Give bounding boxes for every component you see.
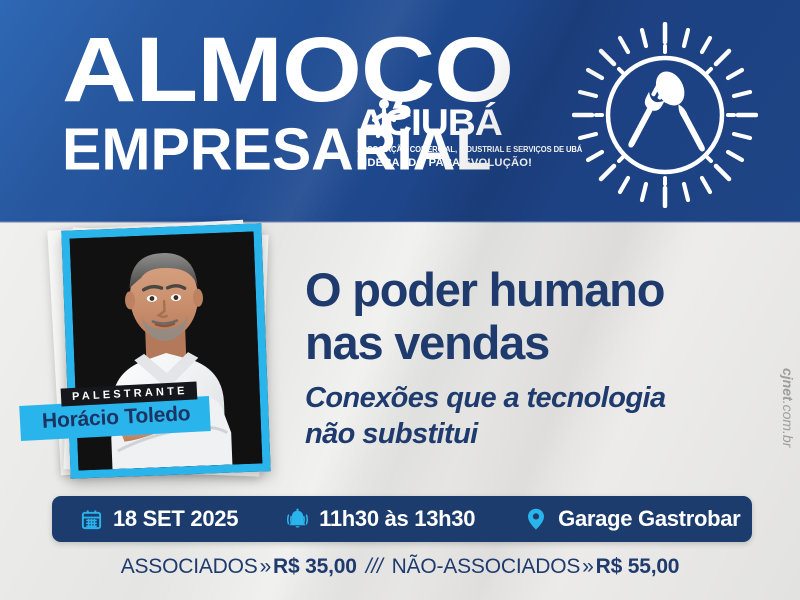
calendar-icon xyxy=(78,506,104,532)
talk-subtitle-line1: Conexões que a tecnologia xyxy=(305,380,775,416)
member-label: ASSOCIADOS xyxy=(121,555,258,578)
bell-icon xyxy=(284,506,310,532)
watermark-credit: cjnet.com.br xyxy=(780,368,796,447)
nonmember-label: NÃO-ASSOCIADOS xyxy=(392,555,581,578)
event-date-text: 18 SET 2025 xyxy=(113,506,238,532)
event-date-item: 18 SET 2025 xyxy=(78,506,238,532)
speaker-name: Horácio Toledo xyxy=(41,402,191,433)
event-time-item: 11h30 às 13h30 xyxy=(284,506,475,532)
talk-title-line2: nas vendas xyxy=(305,316,775,369)
talk-subtitle-line2: não substitui xyxy=(305,416,775,452)
map-pin-icon xyxy=(523,506,549,532)
aciuba-fullname: ASSOCIAÇÃO COMERCIAL, INDUSTRIAL E SERVI… xyxy=(357,144,520,155)
watermark-brand: cjnet xyxy=(780,368,796,401)
event-time-text: 11h30 às 13h30 xyxy=(319,506,475,532)
aciuba-wordmark: ACIUBÁ xyxy=(357,104,541,142)
header-banner: ALMOÇO EMPRESARIAL ACIUBÁ ASSOCIAÇÃO COM… xyxy=(0,0,800,222)
event-info-bar: 18 SET 2025 11h30 às 13h30 xyxy=(52,496,752,542)
speaker-photo-block: Horácio Toledo PALESTRANTE xyxy=(28,205,278,490)
price-row: ASSOCIADOS»R$ 35,00///NÃO-ASSOCIADOS»R$ … xyxy=(0,555,800,579)
event-location-text: Garage Gastrobar xyxy=(558,506,740,532)
talk-title-line1: O poder humano xyxy=(305,263,775,316)
price-separator: /// xyxy=(357,555,392,578)
aciuba-tagline: LIDERANDO PARA EVOLUÇÃO! xyxy=(357,156,532,170)
aciuba-logo: ACIUBÁ ASSOCIAÇÃO COMERCIAL, INDUSTRIAL … xyxy=(357,104,532,170)
speaker-photo-frame xyxy=(61,223,270,478)
member-arrow: » xyxy=(258,555,273,578)
member-price: R$ 35,00 xyxy=(273,555,357,578)
nonmember-price: R$ 55,00 xyxy=(596,555,680,578)
event-location-item: Garage Gastrobar xyxy=(523,506,740,532)
nonmember-arrow: » xyxy=(580,555,595,578)
event-flyer: ALMOÇO EMPRESARIAL ACIUBÁ ASSOCIAÇÃO COM… xyxy=(0,0,800,600)
talk-block: O poder humano nas vendas Conexões que a… xyxy=(305,263,775,452)
watermark-domain: .com.br xyxy=(780,401,796,448)
fork-spoon-sunburst-icon xyxy=(572,22,758,208)
